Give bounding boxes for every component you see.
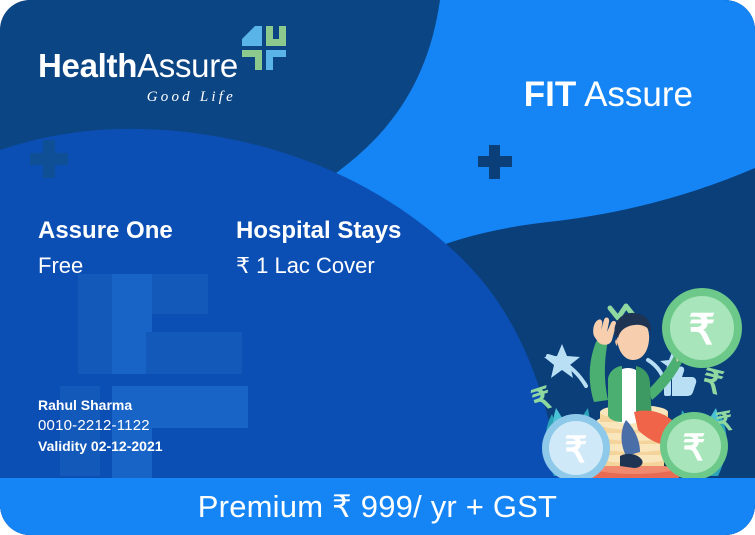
health-insurance-card: HealthAssure Good Life [0,0,755,535]
member-validity: Validity 02-12-2021 [38,436,163,457]
premium-bar: Premium ₹ 999/ yr + GST [0,478,755,535]
plan-title: Hospital Stays [236,216,401,246]
watermark-cross-icon [30,140,68,178]
plan-value: Free [38,251,173,281]
plan-value: ₹ 1 Lac Cover [236,251,401,281]
rupee-coin-green: ₹ [660,412,728,480]
rupee-coin-blue: ₹ [542,414,610,480]
product-title-bold: FIT [524,75,576,114]
member-name: Rahul Sharma [38,395,163,415]
premium-text: Premium ₹ 999/ yr + GST [198,489,557,525]
product-title: FIT Assure [524,74,693,116]
watermark-block-decor [152,386,248,428]
brand-name-light: Assure [137,47,238,84]
rupee-glyph-decor: ₹ [528,381,556,418]
watermark-cross-icon [375,340,407,372]
brand-logo-text: HealthAssure Good Life [38,48,238,107]
person-sitting-on-coin-stack-illustration: ₹ ₹ ₹ [522,280,747,480]
plan-block-hospital-stays: Hospital Stays ₹ 1 Lac Cover [236,216,401,281]
medical-cross-pinwheel-icon [242,26,286,70]
brand-name-bold: Health [38,47,137,84]
watermark-block-decor [146,332,242,374]
watermark-cross-icon [478,145,512,179]
member-id: 0010-2212-1122 [38,415,163,436]
plan-title: Assure One [38,216,173,246]
rupee-symbol: ₹ [683,427,706,468]
rupee-symbol: ₹ [689,306,716,353]
watermark-block-decor [78,274,116,374]
brand-tagline: Good Life [147,87,236,107]
member-details: Rahul Sharma 0010-2212-1122 Validity 02-… [38,395,163,457]
brand-logo: HealthAssure Good Life [38,48,286,107]
plan-block-assure-one: Assure One Free [38,216,173,281]
product-title-light: Assure [584,75,693,114]
rupee-symbol: ₹ [565,429,588,470]
rupee-coin-large: ₹ [662,288,742,368]
brand-name: HealthAssure [38,48,238,84]
